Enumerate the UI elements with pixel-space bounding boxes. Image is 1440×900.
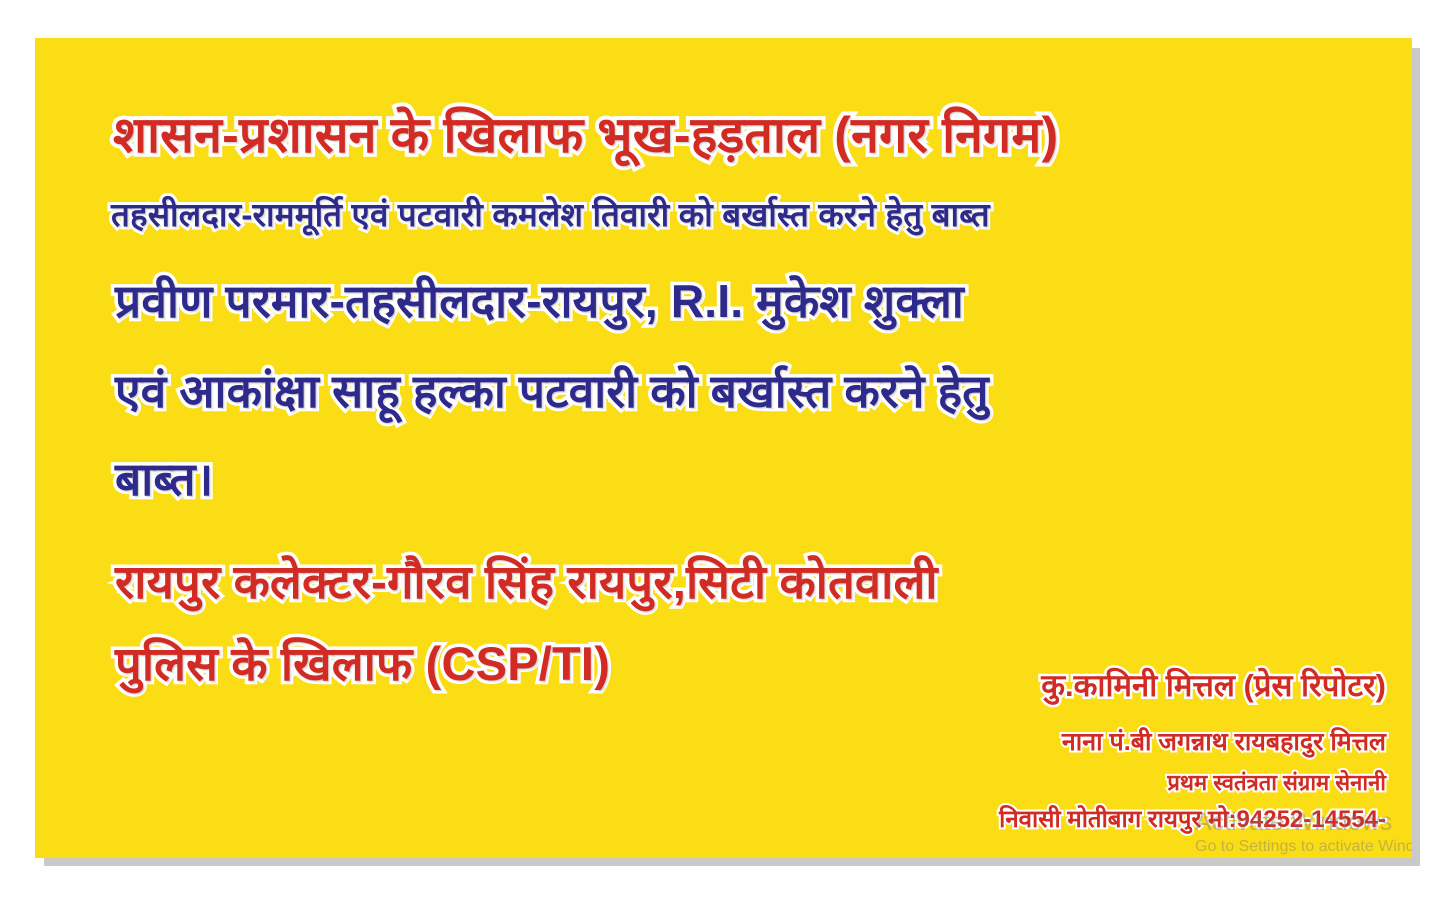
body-line-1: प्रवीण परमार-तहसीलदार-रायपुर, R.I. मुकेश… (115, 278, 964, 324)
signature-address-phone: निवासी मोतीबाग रायपुर मो:94252-14554- (999, 808, 1386, 832)
signature-title: प्रथम स्वतंत्रता संग्राम सेनानी (1167, 772, 1386, 794)
notice-board: शासन-प्रशासन के खिलाफ भूख-हड़ताल (नगर नि… (35, 38, 1412, 858)
windows-activation-watermark-subtitle: Go to Settings to activate Windows. (1195, 838, 1412, 856)
headline-text: शासन-प्रशासन के खिलाफ भूख-हड़ताल (नगर नि… (113, 110, 1058, 160)
red-block-line-1: रायपुर कलेक्टर-गौरव सिंह रायपुर,सिटी कोत… (115, 558, 938, 605)
signature-name: कु.कामिनी मित्तल (प्रेस रिपोटर) (1041, 670, 1386, 701)
signature-relation: नाना पं.बी जगन्नाथ रायबहादुर मित्तल (1062, 730, 1386, 755)
screenshot-canvas: शासन-प्रशासन के खिलाफ भूख-हड़ताल (नगर नि… (0, 0, 1440, 900)
subheadline-text: तहसीलदार-राममूर्ति एवं पटवारी कमलेश तिवा… (111, 198, 990, 231)
red-block-line-2: पुलिस के खिलाफ (CSP/TI) (115, 640, 610, 687)
body-line-2: एवं आकांक्षा साहू हल्का पटवारी को बर्खास… (115, 368, 989, 414)
body-line-3: बाब्त। (115, 456, 213, 502)
